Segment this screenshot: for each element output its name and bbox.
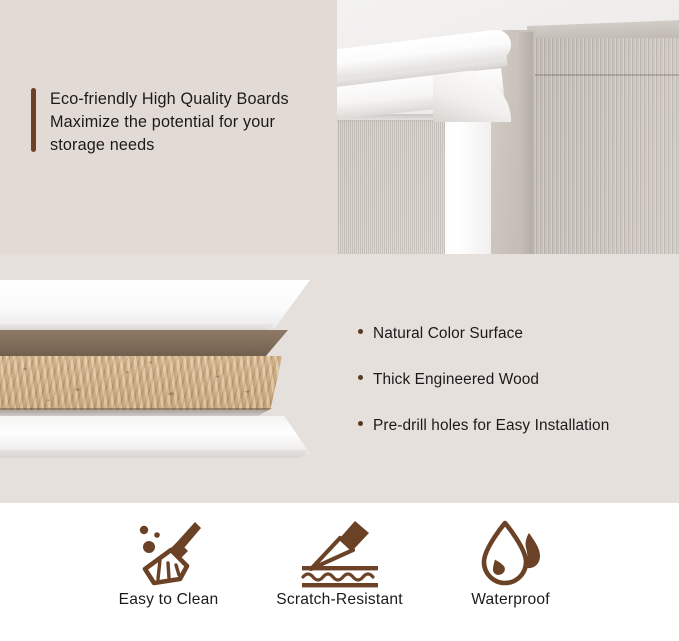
cabinet-side-panel (527, 38, 679, 254)
list-item: Natural Color Surface (358, 324, 658, 343)
bullet-dot-icon (358, 375, 363, 380)
feature-bullet-list: Natural Color Surface Thick Engineered W… (358, 324, 658, 435)
accent-bar (31, 88, 36, 152)
board-bottom-edge (0, 450, 310, 458)
bullet-dot-icon (358, 329, 363, 334)
headline-block: Eco-friendly High Quality Boards Maximiz… (31, 88, 289, 157)
benefits-section: Easy to Clean (0, 503, 679, 641)
bullet-label: Natural Color Surface (373, 324, 523, 343)
cabinet-inner-panel (337, 120, 445, 254)
board-top-laminate (0, 280, 310, 328)
materials-section: Natural Color Surface Thick Engineered W… (0, 254, 679, 503)
cabinet-panel-groove (533, 74, 679, 76)
headline-text: Eco-friendly High Quality Boards Maximiz… (50, 88, 289, 157)
bullet-label: Thick Engineered Wood (373, 370, 539, 389)
benefit-waterproof: Waterproof (425, 503, 596, 609)
cabinet-door-stile (445, 118, 491, 254)
board-bottom-laminate (0, 416, 310, 454)
knife-on-surface-icon (297, 503, 383, 587)
bullet-dot-icon (358, 421, 363, 426)
benefit-label: Scratch-Resistant (276, 591, 402, 609)
board-bevel-edge (0, 330, 288, 358)
list-item: Thick Engineered Wood (358, 370, 658, 389)
benefits-row: Easy to Clean (0, 503, 679, 641)
cabinet-corner-post-edge (519, 32, 533, 254)
furniture-corner-photo (337, 0, 679, 254)
benefit-label: Waterproof (471, 591, 550, 609)
board-particle-core (0, 356, 282, 410)
benefit-easy-to-clean: Easy to Clean (83, 503, 254, 609)
bullet-label: Pre-drill holes for Easy Installation (373, 416, 609, 435)
hero-section: Eco-friendly High Quality Boards Maximiz… (0, 0, 679, 254)
water-droplet-icon (476, 503, 546, 587)
product-infographic: Eco-friendly High Quality Boards Maximiz… (0, 0, 679, 641)
benefit-label: Easy to Clean (119, 591, 219, 609)
benefit-scratch-resistant: Scratch-Resistant (254, 503, 425, 609)
particleboard-cross-section (0, 280, 320, 480)
broom-icon (131, 503, 207, 587)
list-item: Pre-drill holes for Easy Installation (358, 416, 658, 435)
